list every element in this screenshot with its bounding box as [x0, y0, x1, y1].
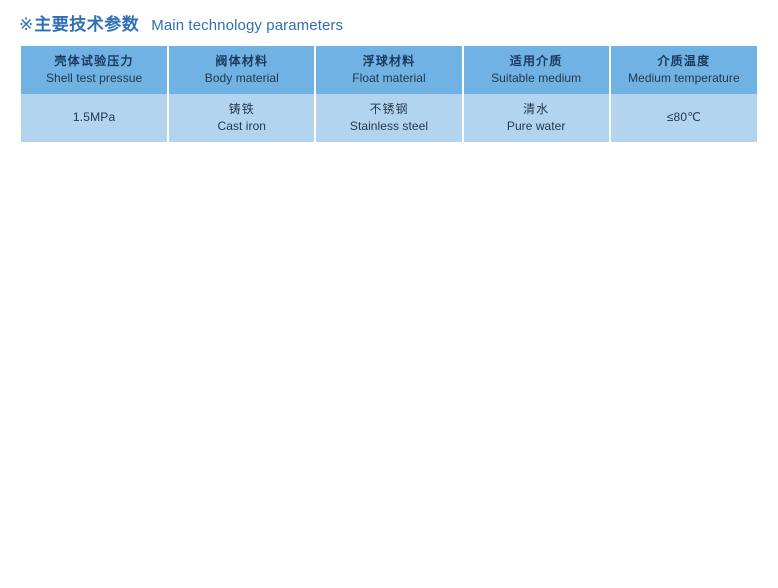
header-label-cn: 浮球材料 — [320, 53, 457, 70]
table-cell: 1.5MPa — [21, 94, 168, 142]
cell-value: ≤80℃ — [615, 109, 753, 126]
table-cell: 清水 Pure water — [463, 94, 610, 142]
header-label-cn: 适用介质 — [468, 53, 605, 70]
table-header-row: 壳体试验压力 Shell test pressue 阀体材料 Body mate… — [21, 46, 757, 94]
header-label-cn: 壳体试验压力 — [25, 53, 163, 70]
cell-value-en: Cast iron — [173, 118, 310, 135]
cell-value-cn: 铸铁 — [173, 101, 310, 118]
header-label-cn: 阀体材料 — [173, 53, 310, 70]
header-label-en: Shell test pressue — [25, 70, 163, 87]
cell-value-cn: 清水 — [468, 101, 605, 118]
cell-value-en: Stainless steel — [320, 118, 457, 135]
technical-parameters-table: 壳体试验压力 Shell test pressue 阀体材料 Body mate… — [21, 46, 757, 142]
table-cell: 铸铁 Cast iron — [168, 94, 315, 142]
page-title-en: Main technology parameters — [151, 18, 343, 33]
table-body: 1.5MPa 铸铁 Cast iron 不锈钢 Stainless steel … — [21, 94, 757, 142]
table-header-cell: 浮球材料 Float material — [315, 46, 462, 94]
header-label-en: Body material — [173, 70, 310, 87]
table-header: 壳体试验压力 Shell test pressue 阀体材料 Body mate… — [21, 46, 757, 94]
table-header-cell: 介质温度 Medium temperature — [610, 46, 757, 94]
reference-mark-icon: ※ — [19, 16, 33, 33]
table-cell: 不锈钢 Stainless steel — [315, 94, 462, 142]
cell-value: 1.5MPa — [25, 109, 163, 126]
table-cell: ≤80℃ — [610, 94, 757, 142]
header-label-en: Float material — [320, 70, 457, 87]
table-header-cell: 适用介质 Suitable medium — [463, 46, 610, 94]
page-title: ※ 主要技术参数 Main technology parameters — [19, 16, 343, 33]
header-label-en: Suitable medium — [468, 70, 605, 87]
cell-value-cn: 不锈钢 — [320, 101, 457, 118]
table-row: 1.5MPa 铸铁 Cast iron 不锈钢 Stainless steel … — [21, 94, 757, 142]
header-label-cn: 介质温度 — [615, 53, 753, 70]
table-header-cell: 壳体试验压力 Shell test pressue — [21, 46, 168, 94]
header-label-en: Medium temperature — [615, 70, 753, 87]
table-header-cell: 阀体材料 Body material — [168, 46, 315, 94]
page-title-cn: 主要技术参数 — [34, 16, 139, 33]
cell-value-en: Pure water — [468, 118, 605, 135]
